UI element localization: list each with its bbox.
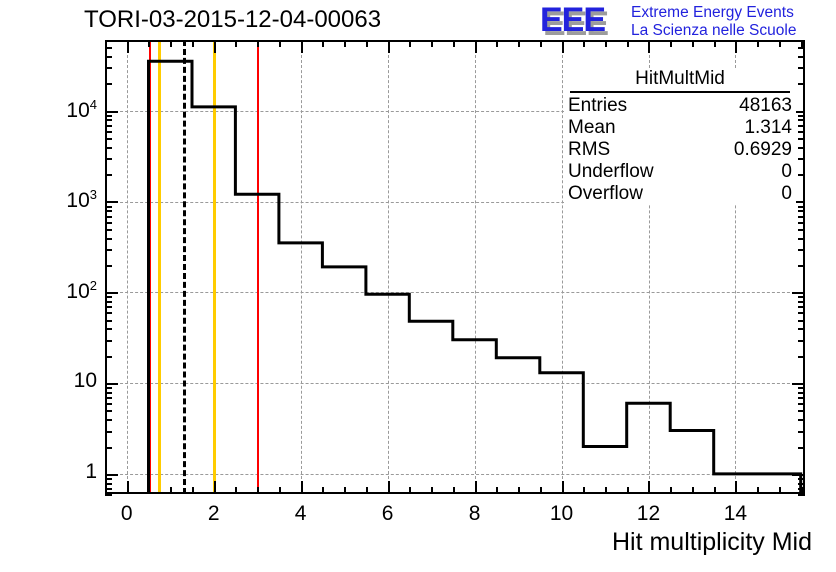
y-tick-label: 10 [29, 369, 97, 393]
axis-tick [388, 40, 390, 53]
axis-tick [692, 40, 694, 47]
y-tick-label: 104 [29, 97, 97, 123]
axis-tick [798, 210, 805, 212]
axis-tick [301, 481, 303, 494]
axis-tick [562, 40, 564, 53]
axis-tick [518, 487, 520, 494]
axis-tick [562, 481, 564, 494]
axis-tick [735, 481, 737, 494]
axis-tick [105, 47, 112, 49]
axis-tick [798, 387, 805, 389]
axis-tick [105, 201, 118, 203]
stats-row-key: Underflow [568, 161, 654, 183]
stats-row: RMS0.6929 [564, 139, 796, 161]
axis-tick [798, 119, 805, 121]
axis-tick [798, 328, 805, 330]
axis-tick [798, 206, 805, 208]
axis-tick [798, 56, 805, 58]
axis-tick [127, 481, 129, 494]
axis-tick [540, 487, 542, 494]
axis-tick [779, 487, 781, 494]
axis-tick [605, 487, 607, 494]
stats-row-key: RMS [568, 139, 610, 161]
axis-tick [648, 40, 650, 53]
axis-tick [279, 40, 281, 47]
axis-tick [798, 67, 805, 69]
axis-tick [735, 40, 737, 53]
axis-tick [798, 131, 805, 133]
axis-tick [235, 40, 237, 47]
axis-tick [105, 340, 112, 342]
axis-tick [105, 356, 112, 358]
axis-tick [105, 265, 112, 267]
axis-tick [257, 40, 259, 47]
axis-tick [105, 431, 112, 433]
axis-tick [798, 40, 805, 42]
axis-tick [105, 328, 112, 330]
axis-tick [322, 40, 324, 47]
axis-tick [105, 67, 112, 69]
axis-tick [798, 494, 805, 496]
axis-tick [105, 392, 112, 394]
axis-tick [344, 40, 346, 47]
axis-tick [105, 83, 112, 85]
stats-box: HitMultMid Entries48163Mean1.314RMS0.692… [564, 68, 796, 205]
axis-tick [148, 40, 150, 47]
x-axis-title: Hit multiplicity Mid [612, 528, 812, 557]
x-tick-label: 2 [184, 502, 244, 526]
axis-tick [105, 383, 118, 385]
axis-tick [496, 487, 498, 494]
axis-tick [798, 115, 805, 117]
axis-tick [648, 481, 650, 494]
axis-tick [798, 265, 805, 267]
axis-tick [366, 487, 368, 494]
y-tick-label: 102 [29, 278, 97, 304]
axis-tick [798, 158, 805, 160]
axis-tick [105, 158, 112, 160]
axis-tick [105, 296, 112, 298]
axis-tick [627, 40, 629, 47]
axis-tick [670, 40, 672, 47]
axis-tick [170, 40, 172, 47]
axis-tick [605, 40, 607, 47]
axis-tick [105, 238, 112, 240]
stats-row-value: 48163 [739, 95, 792, 117]
axis-tick [105, 216, 112, 218]
axis-tick [105, 320, 112, 322]
stats-row: Overflow0 [564, 183, 796, 205]
axis-tick [344, 487, 346, 494]
axis-tick [779, 40, 781, 47]
stats-row-value: 0 [781, 183, 792, 205]
x-tick-label: 6 [358, 502, 418, 526]
axis-tick [798, 125, 805, 127]
axis-tick [105, 210, 112, 212]
x-tick-label: 14 [705, 502, 765, 526]
eee-logo-mark: EEE [540, 2, 605, 38]
axis-tick [757, 40, 759, 47]
axis-tick [235, 487, 237, 494]
stats-row: Underflow0 [564, 161, 796, 183]
axis-tick [105, 387, 112, 389]
axis-tick [692, 487, 694, 494]
stats-row: Mean1.314 [564, 117, 796, 139]
axis-tick [670, 487, 672, 494]
axis-tick [105, 206, 112, 208]
axis-tick [105, 174, 112, 176]
axis-tick [105, 478, 112, 480]
axis-tick [798, 403, 805, 405]
axis-tick [714, 40, 716, 47]
axis-tick [105, 419, 112, 421]
axis-tick [583, 40, 585, 47]
axis-tick [496, 40, 498, 47]
axis-tick [798, 147, 805, 149]
axis-tick [105, 131, 112, 133]
y-tick-label: 1 [29, 460, 97, 484]
axis-tick [105, 483, 112, 485]
axis-tick [798, 483, 805, 485]
axis-tick [105, 292, 118, 294]
axis-tick [798, 238, 805, 240]
axis-tick [192, 487, 194, 494]
axis-tick [798, 174, 805, 176]
axis-tick [798, 488, 805, 490]
axis-tick [583, 487, 585, 494]
axis-tick [105, 397, 112, 399]
axis-tick [105, 229, 112, 231]
axis-tick [105, 494, 112, 496]
axis-tick [105, 410, 112, 412]
axis-tick [518, 40, 520, 47]
x-tick-label: 0 [97, 502, 157, 526]
axis-tick [105, 40, 112, 42]
stats-row-key: Entries [568, 95, 627, 117]
x-tick-label: 12 [618, 502, 678, 526]
axis-tick [214, 481, 216, 494]
axis-tick [798, 419, 805, 421]
axis-tick [105, 125, 112, 127]
stats-row: Entries48163 [564, 95, 796, 117]
axis-tick [105, 138, 112, 140]
axis-tick [105, 111, 118, 113]
axis-tick [105, 301, 112, 303]
axis-tick [798, 431, 805, 433]
y-tick-label: 103 [29, 187, 97, 213]
axis-tick [301, 40, 303, 53]
axis-tick [105, 119, 112, 121]
axis-tick [409, 40, 411, 47]
axis-tick [798, 478, 805, 480]
stats-rows: Entries48163Mean1.314RMS0.6929Underflow0… [564, 95, 796, 205]
root-canvas: TORI-03-2015-12-04-00063 EEE Extreme Ene… [0, 0, 836, 572]
axis-tick [192, 40, 194, 47]
axis-tick [431, 487, 433, 494]
axis-tick [366, 40, 368, 47]
axis-tick [798, 216, 805, 218]
axis-tick [388, 481, 390, 494]
axis-tick [757, 487, 759, 494]
axis-tick [798, 392, 805, 394]
axis-tick [322, 487, 324, 494]
axis-tick [714, 487, 716, 494]
stats-row-value: 1.314 [744, 117, 792, 139]
axis-tick [792, 474, 805, 476]
axis-tick [257, 487, 259, 494]
axis-tick [105, 56, 112, 58]
axis-tick [105, 306, 112, 308]
stats-row-value: 0 [781, 161, 792, 183]
axis-tick [475, 481, 477, 494]
axis-tick [453, 40, 455, 47]
axis-tick [798, 397, 805, 399]
axis-tick [105, 147, 112, 149]
axis-tick [105, 403, 112, 405]
axis-tick [798, 296, 805, 298]
axis-tick [105, 474, 118, 476]
page-title: TORI-03-2015-12-04-00063 [84, 6, 381, 34]
axis-tick [105, 249, 112, 251]
axis-tick [798, 229, 805, 231]
x-tick-label: 4 [271, 502, 331, 526]
axis-tick [409, 487, 411, 494]
axis-tick [431, 40, 433, 47]
axis-tick [798, 83, 805, 85]
axis-tick [798, 47, 805, 49]
axis-tick [540, 40, 542, 47]
axis-tick [105, 115, 112, 117]
eee-logo-line2: La Scienza nelle Scuole [631, 22, 796, 40]
axis-tick [453, 487, 455, 494]
stats-histogram-name: HitMultMid [570, 68, 790, 93]
axis-tick [798, 301, 805, 303]
axis-tick [105, 447, 112, 449]
axis-tick [798, 138, 805, 140]
axis-tick [798, 249, 805, 251]
axis-tick [798, 340, 805, 342]
stats-row-value: 0.6929 [734, 139, 792, 161]
stats-row-key: Overflow [568, 183, 643, 205]
axis-tick [105, 488, 112, 490]
axis-tick [792, 292, 805, 294]
axis-tick [105, 312, 112, 314]
axis-tick [127, 40, 129, 53]
eee-logo: EEE Extreme Energy Events La Scienza nel… [540, 2, 836, 42]
axis-tick [170, 487, 172, 494]
axis-tick [214, 40, 216, 53]
x-tick-label: 10 [532, 502, 592, 526]
axis-tick [105, 222, 112, 224]
axis-tick [798, 320, 805, 322]
stats-row-key: Mean [568, 117, 616, 139]
x-tick-label: 8 [445, 502, 505, 526]
axis-tick [798, 447, 805, 449]
axis-tick [148, 487, 150, 494]
axis-tick [627, 487, 629, 494]
axis-tick [798, 356, 805, 358]
eee-logo-line1: Extreme Energy Events [631, 4, 794, 22]
axis-tick [279, 487, 281, 494]
axis-tick [798, 222, 805, 224]
axis-tick [798, 312, 805, 314]
axis-tick [798, 410, 805, 412]
axis-tick [798, 306, 805, 308]
axis-tick [792, 383, 805, 385]
axis-tick [475, 40, 477, 53]
